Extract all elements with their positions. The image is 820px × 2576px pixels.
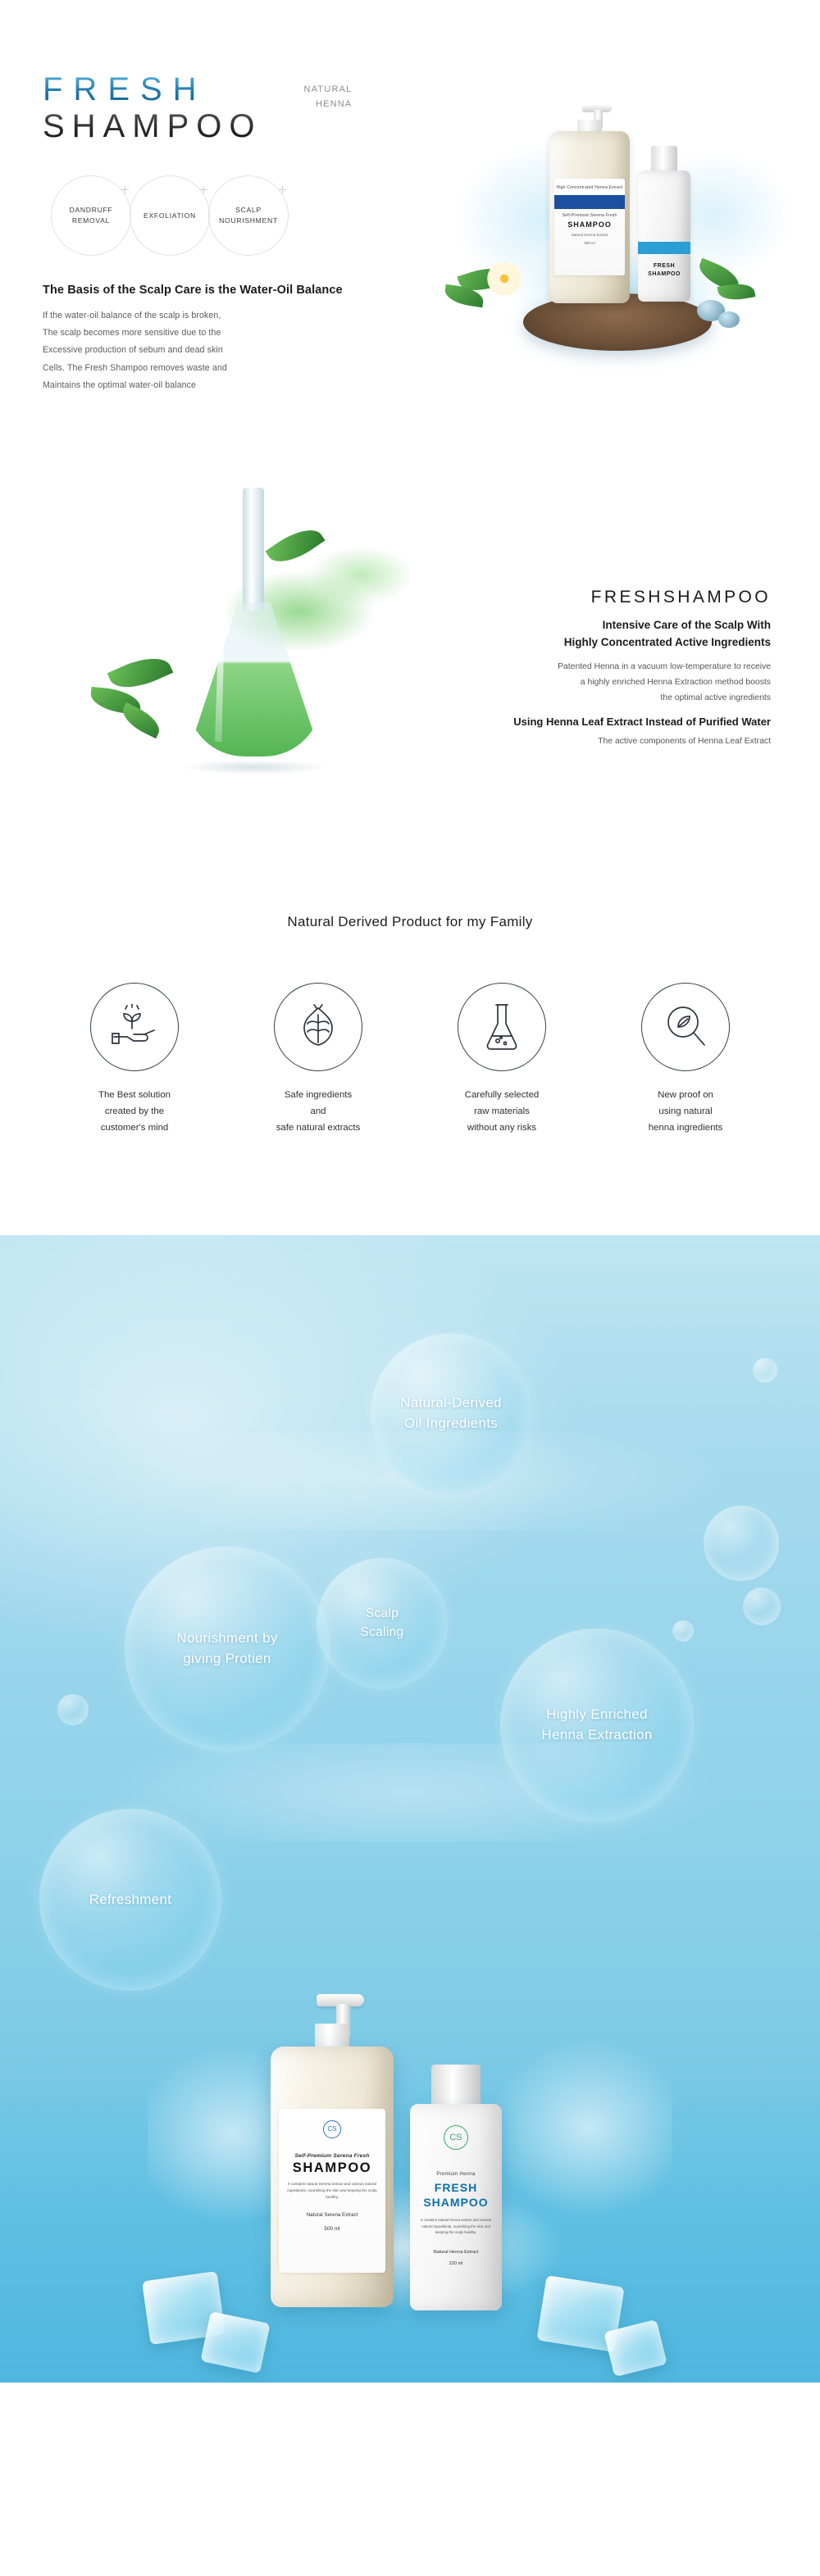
- flask-illustration: [74, 455, 426, 840]
- feature-text-line: created by the: [65, 1104, 204, 1120]
- hero-body-text: If the water-oil balance of the scalp is…: [43, 307, 453, 394]
- pump-head-graphic: [569, 95, 615, 123]
- product-detail-page: High Concentrated Henna Extract Self-Pre…: [0, 0, 820, 2383]
- product-extract: Natural Henna Extract: [410, 2250, 502, 2255]
- bubble-nourishment: Nourishment by giving Protien: [125, 1547, 330, 1751]
- features-row: The Best solution created by the custome…: [0, 983, 820, 1137]
- hero-copy-block: FRESH SHAMPOO NATURAL HENNA DANDRUFF REM…: [43, 72, 453, 394]
- hero-body-line: Excessive production of sebum and dead s…: [43, 342, 453, 359]
- product-sub-text: Self-Premium Serena Fresh: [294, 2153, 369, 2159]
- feature-item-new-proof: New proof on using natural henna ingredi…: [616, 983, 755, 1137]
- bubble-text: Natural-Derived Oil Ingredients: [377, 1393, 525, 1433]
- benefit-label: DANDRUFF REMOVAL: [63, 205, 120, 226]
- bottle-cap-graphic: [431, 2065, 481, 2107]
- bottle-name-line1: FRESH: [638, 263, 690, 269]
- feature-text-line: New proof on: [616, 1088, 755, 1104]
- flask-shadow-graphic: [180, 760, 328, 775]
- bubble-oil-ingredients: Natural-Derived Oil Ingredients: [371, 1333, 531, 1494]
- brand-word-fresh: FRESH: [43, 72, 262, 107]
- bottle-label-desc: Natural Serena Extract: [572, 233, 608, 237]
- hand-sprout-icon: [90, 983, 179, 1071]
- bubble-line2: giving Protien: [171, 1651, 282, 1666]
- benefits-water-section: Natural-Derived Oil Ingredients Nourishm…: [0, 1235, 820, 2383]
- bubble-text: Highly Enriched Henna Extraction: [518, 1705, 675, 1745]
- feature-item-safe-ingredients: Safe ingredients and safe natural extrac…: [248, 983, 388, 1137]
- product-volume: 220 ml: [410, 2261, 502, 2266]
- benefit-label: SCALP NOURISHMENT: [212, 205, 285, 226]
- hero-body-line: The scalp becomes more sensitive due to …: [43, 325, 453, 342]
- section2-paragraph-1-line3: the optimal active ingredients: [426, 690, 771, 706]
- product-name-line1: FRESH: [410, 2181, 502, 2194]
- features-section: Natural Derived Product for my Family: [0, 856, 820, 1235]
- benefit-label: EXFOLIATION: [137, 211, 203, 221]
- bubble-scalp-scaling: Scalp Scaling: [317, 1558, 448, 1689]
- benefit-circle-scalp: SCALP NOURISHMENT: [208, 175, 289, 256]
- section2-heading-2: Using Henna Leaf Extract Instead of Puri…: [426, 716, 771, 728]
- flower-icon: [477, 254, 531, 303]
- decorative-bubble: [704, 1506, 779, 1581]
- bubble-text: Refreshment: [66, 1890, 195, 1910]
- bubble-line2: Henna Extraction: [530, 1727, 663, 1742]
- ingredient-copy-block: FRESHSHAMPOO Intensive Care of the Scalp…: [426, 588, 771, 749]
- bottle-label-color-strip: [554, 195, 625, 209]
- brand-lockup: FRESH SHAMPOO NATURAL HENNA: [43, 72, 453, 144]
- decorative-bubble: [753, 1358, 777, 1383]
- hero-section: High Concentrated Henna Extract Self-Pre…: [0, 0, 820, 447]
- section2-paragraph-1: Patented Henna in a vacuum low-temperatu…: [426, 659, 771, 706]
- ingredient-section: FRESHSHAMPOO Intensive Care of the Scalp…: [0, 447, 820, 856]
- bubble-line1: Nourishment by: [165, 1630, 289, 1646]
- pump-head-graphic: [298, 1981, 369, 2027]
- bubble-text: Scalp Scaling: [338, 1605, 427, 1642]
- bubble-line2: Oil Ingredients: [393, 1415, 509, 1431]
- feature-text-line: The Best solution: [65, 1088, 204, 1104]
- bubble-henna-extraction: Highly Enriched Henna Extraction: [500, 1629, 694, 1822]
- bottle-label-sub-text: Self-Premium Serena Fresh: [563, 213, 617, 218]
- section2-paragraph-2: The active components of Henna Leaf Extr…: [426, 734, 771, 749]
- leaf-icon: [117, 702, 164, 738]
- pebble-graphic: [718, 311, 740, 328]
- bubble-line2: Scaling: [349, 1625, 416, 1639]
- feature-text-line: Carefully selected: [432, 1088, 572, 1104]
- bubble-line1: Natural-Derived: [389, 1395, 513, 1411]
- feature-item-best-solution: The Best solution created by the custome…: [65, 983, 204, 1137]
- feature-text: New proof on using natural henna ingredi…: [616, 1088, 755, 1137]
- bubble-line1: Refreshment: [78, 1892, 184, 1907]
- product-extract: Natural Serena Extract: [307, 2212, 358, 2218]
- hero-headline: The Basis of the Scalp Care is the Water…: [43, 284, 453, 297]
- bubble-text: Nourishment by giving Protien: [153, 1629, 300, 1669]
- hero-bottle-small: FRESH SHAMPOO: [638, 146, 690, 302]
- hero-body-line: Cells. The Fresh Shampoo removes waste a…: [43, 360, 453, 377]
- feature-item-raw-materials: Carefully selected raw materials without…: [432, 983, 572, 1137]
- brand-logo-icon: CS: [444, 2125, 468, 2150]
- leaf-shield-icon: [274, 983, 362, 1071]
- flask-cone-graphic: [187, 602, 321, 756]
- hero-body-line: Maintains the optimal water-oil balance: [43, 377, 453, 394]
- section2-paragraph-1-line2: a highly enriched Henna Extraction metho…: [426, 675, 771, 690]
- benefit-circle-exfoliation: EXFOLIATION: [130, 175, 210, 256]
- benefit-circle-dandruff: DANDRUFF REMOVAL: [51, 175, 131, 256]
- brand-logo-icon: CS: [323, 2120, 341, 2138]
- decorative-bubble: [672, 1620, 694, 1642]
- bottle-name-line2: SHAMPOO: [638, 271, 690, 277]
- bottle-label-name: SHAMPOO: [567, 220, 612, 229]
- section2-heading-1: Intensive Care of the Scalp With Highly …: [426, 617, 771, 652]
- product-name-line2: SHAMPOO: [410, 2196, 502, 2209]
- benefit-circles: DANDRUFF REMOVAL EXFOLIATION SCALP NOURI…: [51, 175, 453, 256]
- bubble-refreshment: Refreshment: [39, 1809, 221, 1991]
- flask-icon: [458, 983, 546, 1071]
- feature-text: Safe ingredients and safe natural extrac…: [248, 1088, 388, 1137]
- product-name: SHAMPOO: [293, 2160, 371, 2176]
- bottle-label-volume: 500 ml: [584, 241, 594, 245]
- feature-text-line: Safe ingredients: [248, 1088, 388, 1104]
- product-bottle-large: CS Self-Premium Serena Fresh SHAMPOO It …: [271, 1971, 394, 2307]
- section2-title: FRESHSHAMPOO: [426, 588, 771, 607]
- brand-word-shampoo: SHAMPOO: [43, 108, 262, 144]
- product-premium-text: Premium Henna: [410, 2171, 502, 2177]
- features-title: Natural Derived Product for my Family: [0, 914, 820, 930]
- bubble-line1: Highly Enriched: [535, 1706, 659, 1722]
- hero-body-line: If the water-oil balance of the scalp is…: [43, 307, 453, 325]
- feature-text-line: without any risks: [432, 1120, 572, 1137]
- bottle-body-graphic: [638, 170, 690, 302]
- brand-subtitle-line2: HENNA: [280, 97, 352, 111]
- brand-subtitle: NATURAL HENNA: [280, 82, 352, 111]
- feature-text-line: safe natural extracts: [248, 1120, 388, 1137]
- section2-heading-1-line1: Intensive Care of the Scalp With: [426, 617, 771, 634]
- product-bottle-small: CS Premium Henna FRESH SHAMPOO It contai…: [410, 2065, 502, 2310]
- bottle-cap-graphic: [651, 146, 677, 174]
- product-label-large: CS Self-Premium Serena Fresh SHAMPOO It …: [279, 2109, 385, 2273]
- section2-paragraph-1-line1: Patented Henna in a vacuum low-temperatu…: [426, 659, 771, 675]
- feature-text-line: customer's mind: [65, 1120, 204, 1137]
- magnifier-leaf-icon: [641, 983, 730, 1071]
- product-description: It contains natural Serena extract and v…: [285, 2181, 380, 2201]
- bottle-label: High Concentrated Henna Extract Self-Pre…: [554, 179, 625, 275]
- erlenmeyer-flask-icon: [172, 488, 336, 758]
- feature-text-line: raw materials: [432, 1104, 572, 1120]
- decorative-bubble: [57, 1694, 89, 1725]
- feature-text-line: and: [248, 1104, 388, 1120]
- section2-heading-1-line2: Highly Concentrated Active Ingredients: [426, 634, 771, 652]
- bubble-line1: Scalp: [354, 1606, 410, 1620]
- hero-product-illustration: High Concentrated Henna Extract Self-Pre…: [426, 23, 812, 408]
- bottle-color-strip: [638, 242, 690, 254]
- feature-text: Carefully selected raw materials without…: [432, 1088, 572, 1137]
- bottle-label-top-text: High Concentrated Henna Extract: [557, 185, 623, 190]
- hero-bottle-large: High Concentrated Henna Extract Self-Pre…: [549, 89, 630, 303]
- product-volume: 500 ml: [324, 2226, 339, 2232]
- feature-text-line: using natural: [616, 1104, 755, 1120]
- brand-name: FRESH SHAMPOO: [43, 72, 262, 144]
- feature-text: The Best solution created by the custome…: [65, 1088, 204, 1137]
- brand-subtitle-line1: NATURAL: [280, 82, 352, 97]
- decorative-bubble: [743, 1588, 781, 1625]
- flask-neck-graphic: [243, 488, 264, 611]
- feature-text-line: henna ingredients: [616, 1120, 755, 1137]
- product-description: It contains natural henna extract and va…: [415, 2217, 497, 2236]
